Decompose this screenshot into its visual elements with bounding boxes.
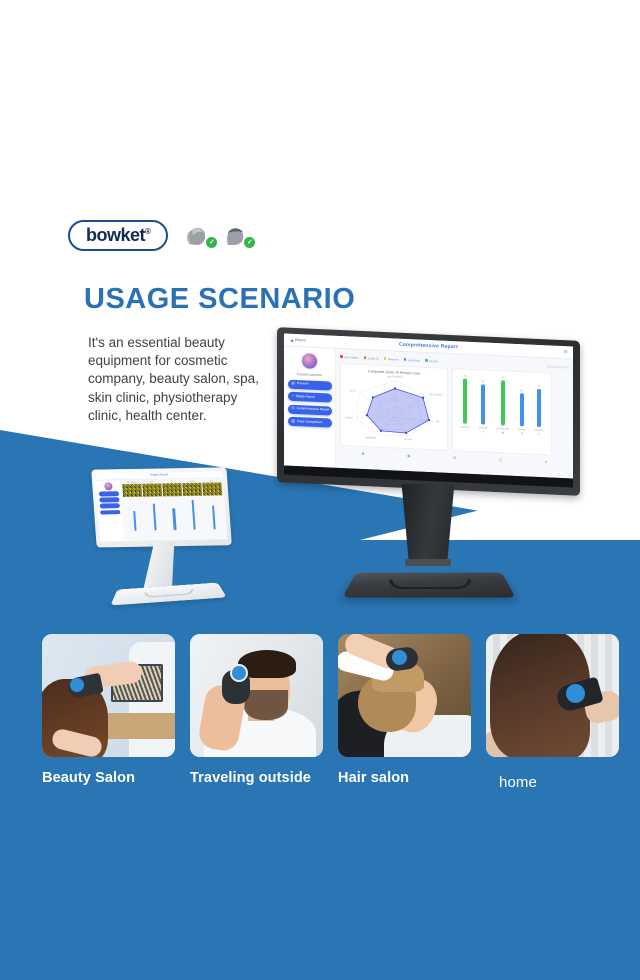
legend-item: Sensitivity [404, 357, 421, 362]
mini-bar [152, 503, 156, 530]
moisture-icon: ◔ [464, 429, 466, 433]
monitor-bezel: ◀ Return Comprehensive Report ⚙ Casual c… [277, 327, 580, 496]
scenario-label: Beauty Salon [42, 770, 175, 786]
mini-bar [172, 508, 176, 530]
bar-column: 62 Keratin ◍ [518, 377, 526, 435]
keratin-icon: ◍ [520, 431, 523, 435]
app-sidebar: Casual customer ▤ Preview ◔ Single Repor… [284, 346, 336, 467]
sidebar-label: Case Comparison [297, 420, 323, 425]
page-description: It's an essential beauty equipment for c… [88, 334, 268, 425]
oil-icon: ◑ [482, 429, 484, 433]
bar-chart: 96 Moisture ◔ 74 Scalp Oil ◑ [456, 374, 548, 436]
logo-row: bowket® ✓ ✓ [68, 220, 355, 251]
case-comparison-icon: ▥ [292, 419, 295, 423]
svg-text:Sensitivity: Sensitivity [365, 436, 377, 440]
legend-label: Moisture [388, 357, 399, 361]
scenario-label: Hair salon [338, 770, 471, 786]
legend-label: Hair Follicle [344, 355, 359, 360]
legend-item: Scalp Oil [364, 356, 379, 361]
travel-photo [190, 634, 323, 757]
mini-bar [192, 499, 196, 529]
badge-icons: ✓ ✓ [184, 224, 248, 248]
salon-photo [42, 634, 175, 757]
photo-device-lens [566, 684, 585, 703]
bar [537, 389, 540, 427]
mini-thumbnail-row: Hair Follicle Pore Oil Scalp [122, 480, 222, 497]
legend-item: Hair Follicle [340, 354, 359, 359]
check-icon: ✓ [244, 237, 255, 248]
elasticity-icon: ◎ [538, 432, 541, 436]
legend-label: Keratin [429, 359, 438, 363]
camera-icon[interactable]: ◉ [407, 453, 411, 458]
scenario-card-hair-salon[interactable]: Hair salon [338, 634, 471, 791]
scenario-label: Traveling outside [190, 770, 323, 786]
preview-icon: ▤ [292, 382, 295, 386]
legend-swatch [404, 358, 407, 361]
legend-swatch [384, 357, 387, 360]
small-monitor-stand [141, 541, 181, 588]
report-date: 2024-01-01 10:00 [547, 364, 569, 369]
sidebar-item-preview[interactable]: ▤ Preview [288, 379, 332, 390]
scenario-card-beauty-salon[interactable]: Beauty Salon [42, 634, 175, 791]
monitor-stand [398, 484, 458, 562]
bar [501, 380, 504, 425]
page-title: USAGE SCENARIO [84, 283, 355, 316]
gear-icon[interactable]: ⚙ [564, 349, 568, 355]
legend-swatch [364, 356, 367, 359]
bar-value: 70 [538, 385, 541, 388]
density-icon: ◉ [502, 430, 505, 434]
scenario-card-home[interactable]: home [486, 634, 619, 791]
scenario-cards: Beauty Salon Traveling outside [42, 634, 602, 791]
mini-sidebar-item[interactable] [99, 491, 119, 496]
print-icon[interactable]: ⎙ [499, 457, 502, 462]
legend-swatch [425, 359, 428, 362]
radar-chart: Hair Thickness Hair Density Oil Keratin … [345, 372, 445, 443]
legend-swatch [340, 355, 343, 358]
monitor-stand-neck [405, 559, 451, 566]
sidebar-item-case-comparison[interactable]: ▥ Case Comparison [288, 417, 332, 428]
sidebar-item-single-report[interactable]: ◔ Single Report [288, 392, 332, 403]
mini-app-title: Single Report [95, 471, 222, 477]
photo-device-lens [230, 664, 248, 682]
bar-value: 74 [481, 380, 484, 383]
brand-logo: bowket® [68, 220, 168, 251]
sidebar-label: Single Report [296, 395, 315, 399]
svg-text:Oil: Oil [436, 420, 439, 423]
export-icon[interactable]: ✦ [544, 459, 547, 464]
mini-bar [133, 510, 137, 530]
bar [520, 393, 523, 426]
bar-column: 87 Hair Density ◉ [496, 376, 509, 435]
bar-column: 70 Elasticity ◎ [534, 378, 543, 436]
svg-text:Keratin: Keratin [404, 438, 412, 441]
sidebar-label: Preview [297, 382, 308, 386]
legend-item: Keratin [425, 358, 438, 363]
small-monitor-base-handle [144, 589, 195, 598]
scenario-card-traveling-outside[interactable]: Traveling outside [190, 634, 323, 791]
mini-bar [212, 505, 216, 529]
photo-device-lens [392, 650, 407, 665]
comprehensive-report-icon: ◎ [292, 407, 295, 411]
settings-icon[interactable]: ⚙ [453, 455, 457, 460]
mini-thumb [182, 482, 202, 495]
female-head-icon: ✓ [184, 224, 210, 248]
sidebar-label: Comprehensive Report [297, 407, 330, 412]
mini-thumb [202, 482, 222, 495]
bar-chart-card: 96 Moisture ◔ 74 Scalp Oil ◑ [452, 368, 552, 456]
small-monitor-screen: Single Report Hair Follicle [95, 471, 227, 541]
check-icon: ✓ [206, 237, 217, 248]
svg-text:Hair Density: Hair Density [429, 393, 443, 397]
chart-cards: Composite Score:76 Primary Care [340, 363, 569, 456]
brand-trademark: ® [145, 227, 150, 236]
bar-column: 96 Moisture ◔ [460, 374, 469, 432]
bar-value: 62 [520, 389, 523, 392]
monitor-base-handle [387, 579, 474, 589]
single-report-icon: ◔ [292, 394, 294, 398]
bar [463, 379, 466, 424]
small-monitor: Single Report Hair Follicle [91, 463, 245, 608]
legend-label: Scalp Oil [368, 356, 379, 361]
legend-label: Sensitivity [407, 358, 420, 363]
app-main: Hair Follicle Scalp Oil Moisture Sensiti… [336, 349, 573, 479]
scenario-label: home [499, 774, 619, 791]
home-photo [486, 634, 619, 757]
mini-avatar [104, 482, 113, 490]
photo-beard [244, 690, 288, 720]
svg-text:Shine: Shine [350, 389, 357, 392]
mini-sidebar-item[interactable] [100, 510, 120, 515]
radar-chart-card: Composite Score:76 Primary Care [340, 363, 448, 451]
small-monitor-bezel: Single Report Hair Follicle [91, 467, 232, 547]
sidebar-item-comprehensive-report[interactable]: ◎ Comprehensive Report [288, 404, 332, 415]
hairsalon-photo [338, 634, 471, 757]
monitor-base [342, 573, 515, 598]
male-head-icon: ✓ [222, 224, 248, 248]
svg-text:Hair Thickness: Hair Thickness [387, 375, 404, 379]
brand-logo-text: bowket [86, 225, 145, 245]
user-name: Casual customer [297, 372, 322, 377]
legend-item: Moisture [384, 356, 399, 361]
avatar [301, 352, 318, 370]
mini-thumb [162, 483, 182, 496]
mini-sidebar-item[interactable] [99, 497, 119, 502]
large-monitor: ◀ Return Comprehensive Report ⚙ Casual c… [277, 334, 580, 604]
mini-thumb [122, 483, 142, 496]
mini-body: Hair Follicle Pore Oil Scalp [96, 478, 227, 541]
mini-thumb [142, 483, 162, 496]
mini-bar-chart [123, 497, 224, 531]
bar-value: 87 [501, 376, 504, 379]
bar [481, 384, 484, 424]
app-body: Casual customer ▤ Preview ◔ Single Repor… [284, 346, 573, 478]
bar-value: 96 [463, 375, 466, 378]
monitor-screen: ◀ Return Comprehensive Report ⚙ Casual c… [284, 333, 573, 478]
mini-sidebar-item[interactable] [100, 504, 120, 509]
mini-main: Hair Follicle Pore Oil Scalp [120, 478, 227, 541]
svg-text:Moisture: Moisture [345, 416, 354, 419]
scan-icon[interactable]: ✹ [361, 450, 364, 455]
bar-column: 74 Scalp Oil ◑ [478, 375, 488, 433]
